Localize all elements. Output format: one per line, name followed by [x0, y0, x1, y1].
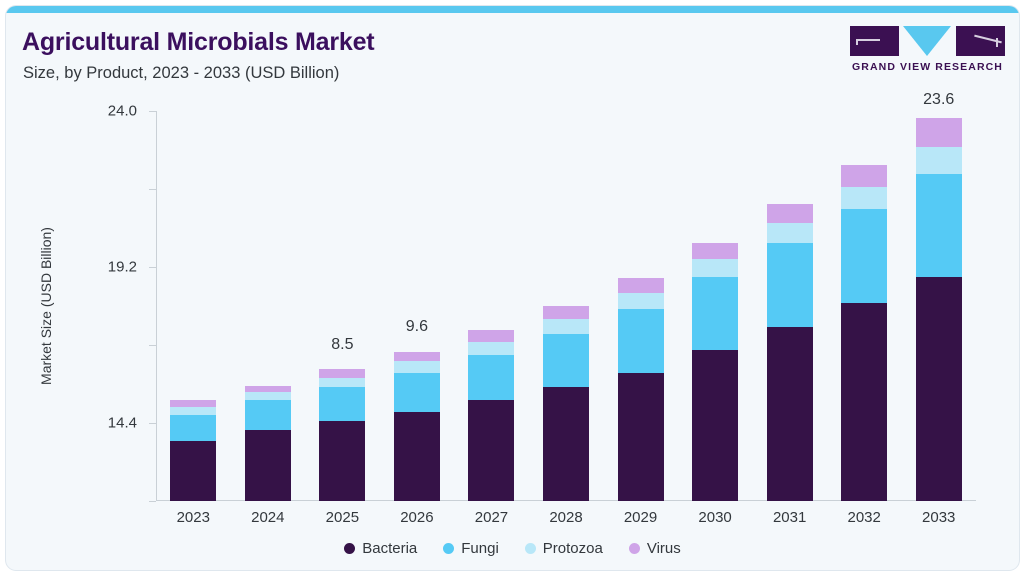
bar-segment-fungi[interactable]	[767, 243, 813, 328]
chart-card: Agricultural Microbials Market Size, by …	[6, 6, 1019, 570]
bar-segment-virus[interactable]	[319, 369, 365, 377]
legend-label: Bacteria	[362, 540, 417, 557]
bar-segment-virus[interactable]	[767, 204, 813, 224]
bar-value-label: 9.6	[377, 318, 457, 336]
bar-stack[interactable]	[468, 330, 514, 501]
legend-swatch-icon	[525, 543, 536, 554]
y-axis-tick-label: 14.4	[108, 415, 137, 432]
x-axis-tick-label: 2032	[824, 509, 904, 526]
bar-segment-virus[interactable]	[841, 165, 887, 188]
y-axis-tick-mark: 0.0	[149, 501, 156, 502]
bar-segment-bacteria[interactable]	[170, 441, 216, 501]
legend-item-virus[interactable]: Virus	[629, 540, 681, 557]
bar-segment-protozoa[interactable]	[394, 361, 440, 372]
legend-item-bacteria[interactable]: Bacteria	[344, 540, 417, 557]
bar-segment-bacteria[interactable]	[692, 350, 738, 501]
bar-segment-fungi[interactable]	[618, 309, 664, 372]
bar-stack[interactable]	[319, 369, 365, 501]
legend-label: Fungi	[461, 540, 499, 557]
bar-segment-virus[interactable]	[618, 278, 664, 293]
bar-value-label: 23.6	[899, 91, 979, 109]
legend-label: Protozoa	[543, 540, 603, 557]
legend-label: Virus	[647, 540, 681, 557]
bar-segment-fungi[interactable]	[245, 400, 291, 429]
bar-segment-virus[interactable]	[468, 330, 514, 341]
bar-segment-virus[interactable]	[543, 306, 589, 319]
y-axis-tick-label: 24.0	[108, 103, 137, 120]
bar-segment-bacteria[interactable]	[319, 421, 365, 501]
y-axis-tick-mark: 14.4	[149, 267, 156, 268]
x-axis-tick-label: 2028	[526, 509, 606, 526]
y-axis-tick-mark: 24.0	[149, 111, 156, 112]
bar-segment-protozoa[interactable]	[767, 223, 813, 243]
bar-segment-protozoa[interactable]	[618, 293, 664, 309]
bar-stack[interactable]	[543, 306, 589, 501]
x-axis-tick-label: 2023	[153, 509, 233, 526]
bar-stack[interactable]	[618, 278, 664, 501]
bar-segment-fungi[interactable]	[692, 277, 738, 350]
page-subtitle: Size, by Product, 2023 - 2033 (USD Billi…	[23, 64, 339, 83]
bar-segment-protozoa[interactable]	[543, 319, 589, 334]
bar-stack[interactable]	[170, 400, 216, 501]
bar-segment-protozoa[interactable]	[841, 187, 887, 208]
bar-segment-fungi[interactable]	[543, 334, 589, 388]
page-title: Agricultural Microbials Market	[22, 28, 374, 57]
legend-swatch-icon	[344, 543, 355, 554]
logo-left-box-icon	[850, 26, 899, 56]
y-axis-tick-mark: 9.6	[149, 345, 156, 346]
x-axis-tick-label: 2033	[899, 509, 979, 526]
bar-segment-protozoa[interactable]	[916, 147, 962, 175]
logo-right-box-icon	[956, 26, 1005, 56]
x-axis-tick-label: 2024	[228, 509, 308, 526]
logo-triangle-icon	[903, 26, 951, 56]
legend-item-protozoa[interactable]: Protozoa	[525, 540, 603, 557]
bar-segment-bacteria[interactable]	[394, 412, 440, 501]
chart-legend: BacteriaFungiProtozoaVirus	[6, 540, 1019, 557]
logo-text: GRAND VIEW RESEARCH	[850, 61, 1005, 73]
bar-segment-protozoa[interactable]	[319, 378, 365, 388]
bar-stack[interactable]	[245, 386, 291, 501]
x-axis-tick-label: 2031	[750, 509, 830, 526]
bar-stack[interactable]	[841, 165, 887, 501]
bar-segment-fungi[interactable]	[841, 209, 887, 303]
bar-segment-virus[interactable]	[394, 352, 440, 362]
y-axis-tick-mark: 19.2	[149, 189, 156, 190]
bar-segment-fungi[interactable]	[170, 415, 216, 441]
bar-stack[interactable]	[692, 243, 738, 501]
bar-value-label: 8.5	[302, 336, 382, 354]
bar-segment-fungi[interactable]	[394, 373, 440, 412]
x-axis-tick-label: 2029	[601, 509, 681, 526]
bar-segment-fungi[interactable]	[916, 174, 962, 276]
bar-segment-bacteria[interactable]	[245, 430, 291, 502]
bar-segment-protozoa[interactable]	[468, 342, 514, 355]
y-axis-tick-label: 19.2	[108, 259, 137, 276]
x-axis-tick-label: 2030	[675, 509, 755, 526]
logo-marks	[850, 26, 1005, 58]
grand-view-research-logo: GRAND VIEW RESEARCH	[850, 26, 1005, 78]
bar-stack[interactable]	[394, 352, 440, 502]
bar-segment-bacteria[interactable]	[618, 373, 664, 501]
bar-segment-protozoa[interactable]	[245, 392, 291, 400]
bar-segment-bacteria[interactable]	[841, 303, 887, 501]
bar-segment-protozoa[interactable]	[692, 259, 738, 277]
bar-stack[interactable]	[916, 118, 962, 502]
legend-swatch-icon	[443, 543, 454, 554]
legend-item-fungi[interactable]: Fungi	[443, 540, 499, 557]
bar-segment-fungi[interactable]	[319, 387, 365, 421]
x-axis-tick-label: 2026	[377, 509, 457, 526]
bar-segment-virus[interactable]	[692, 243, 738, 259]
chart-plot-area: Market Size (USD Billion) 0.04.89.614.41…	[156, 111, 976, 501]
y-axis-line	[156, 111, 157, 501]
bar-segment-virus[interactable]	[916, 118, 962, 147]
y-axis-tick-mark: 4.8	[149, 423, 156, 424]
top-accent-bar	[6, 6, 1019, 13]
bar-segment-bacteria[interactable]	[767, 327, 813, 501]
y-axis-title: Market Size (USD Billion)	[38, 227, 54, 385]
bar-segment-fungi[interactable]	[468, 355, 514, 401]
legend-swatch-icon	[629, 543, 640, 554]
bar-stack[interactable]	[767, 204, 813, 501]
x-axis-tick-label: 2025	[302, 509, 382, 526]
x-axis-tick-label: 2027	[451, 509, 531, 526]
bar-segment-bacteria[interactable]	[916, 277, 962, 501]
bar-segment-protozoa[interactable]	[170, 407, 216, 415]
bar-segment-bacteria[interactable]	[468, 400, 514, 501]
bar-segment-bacteria[interactable]	[543, 387, 589, 501]
